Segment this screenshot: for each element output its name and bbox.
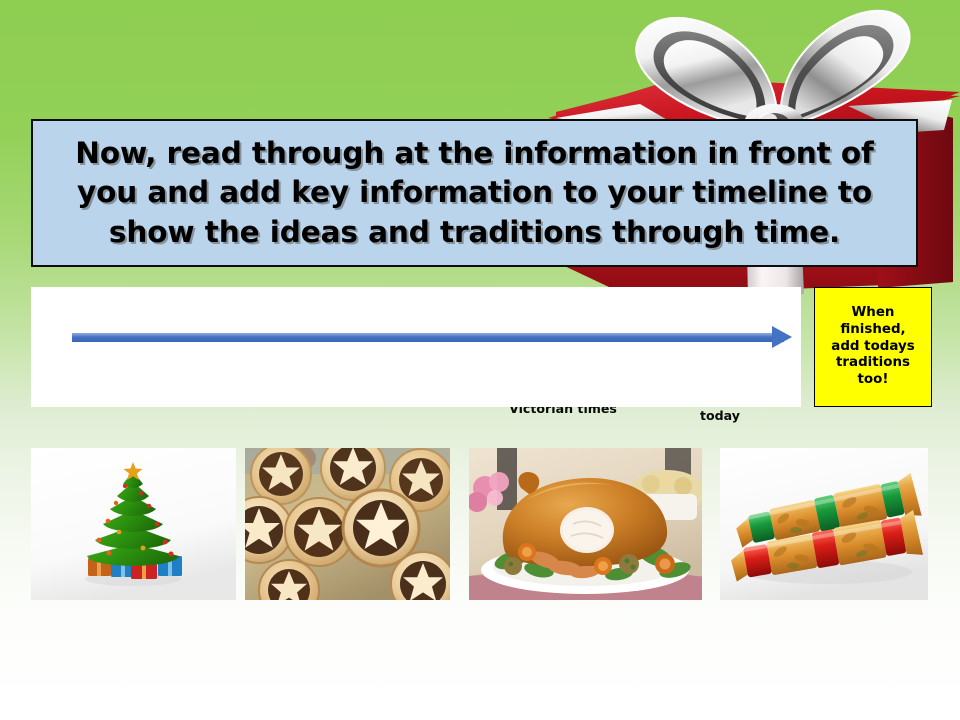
instruction-banner: Now, read through at the information in …: [31, 119, 918, 267]
timeline-label-21st-century-line2: today: [700, 408, 740, 423]
roast-turkey-photo: [469, 448, 702, 600]
slide-canvas: Now, read through at the information in …: [0, 0, 960, 720]
timeline-arrow-head: [772, 326, 792, 348]
reminder-note: When finished, add todays traditions too…: [814, 287, 932, 407]
mince-pies-photo: [245, 448, 450, 600]
instruction-banner-text: Now, read through at the information in …: [33, 134, 916, 253]
christmas-crackers-photo: [720, 448, 928, 600]
timeline-panel: [31, 287, 801, 407]
reminder-note-text: When finished, add todays traditions too…: [831, 305, 914, 389]
christmas-tree-photo: [31, 448, 236, 600]
timeline-arrow-bar: [72, 333, 784, 342]
